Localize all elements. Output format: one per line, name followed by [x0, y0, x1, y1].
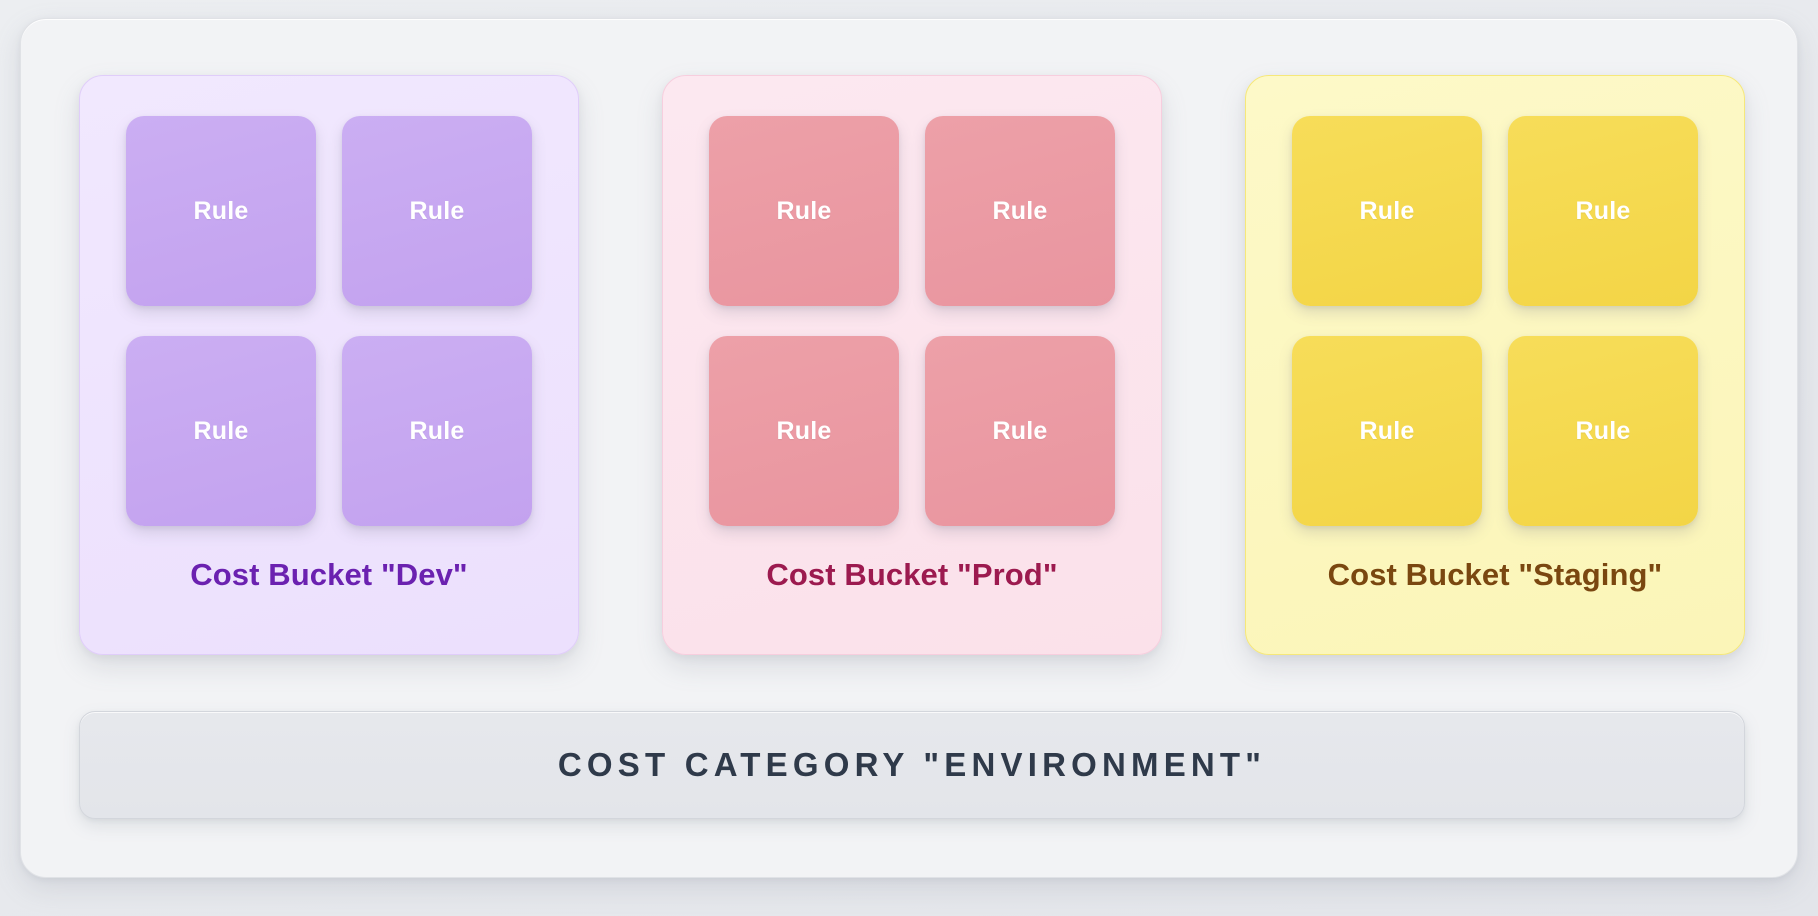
rule-tile[interactable]: Rule [126, 336, 316, 526]
cost-bucket-label-dev: Cost Bucket "Dev" [190, 557, 467, 593]
rule-tile[interactable]: Rule [709, 116, 899, 306]
rule-grid-dev: Rule Rule Rule Rule [141, 116, 517, 526]
cost-bucket-prod[interactable]: Rule Rule Rule Rule Cost Bucket "Prod" [662, 75, 1162, 655]
cost-bucket-label-prod: Cost Bucket "Prod" [766, 557, 1057, 593]
cost-category-bar[interactable]: COST CATEGORY "ENVIRONMENT" [79, 711, 1745, 819]
cost-bucket-dev[interactable]: Rule Rule Rule Rule Cost Bucket "Dev" [79, 75, 579, 655]
diagram-stage: Rule Rule Rule Rule Cost Bucket "Dev" Ru… [0, 0, 1818, 916]
cost-category-label: COST CATEGORY "ENVIRONMENT" [558, 746, 1266, 784]
cost-bucket-staging[interactable]: Rule Rule Rule Rule Cost Bucket "Staging… [1245, 75, 1745, 655]
rule-tile[interactable]: Rule [709, 336, 899, 526]
rule-tile[interactable]: Rule [1292, 336, 1482, 526]
cost-buckets-row: Rule Rule Rule Rule Cost Bucket "Dev" Ru… [79, 75, 1745, 655]
rule-tile[interactable]: Rule [1508, 336, 1698, 526]
rule-tile[interactable]: Rule [925, 336, 1115, 526]
diagram-card: Rule Rule Rule Rule Cost Bucket "Dev" Ru… [20, 18, 1798, 878]
rule-tile[interactable]: Rule [925, 116, 1115, 306]
rule-grid-staging: Rule Rule Rule Rule [1307, 116, 1683, 526]
cost-bucket-label-staging: Cost Bucket "Staging" [1328, 557, 1663, 593]
rule-tile[interactable]: Rule [342, 336, 532, 526]
rule-tile[interactable]: Rule [126, 116, 316, 306]
rule-tile[interactable]: Rule [1292, 116, 1482, 306]
rule-grid-prod: Rule Rule Rule Rule [724, 116, 1100, 526]
rule-tile[interactable]: Rule [342, 116, 532, 306]
rule-tile[interactable]: Rule [1508, 116, 1698, 306]
